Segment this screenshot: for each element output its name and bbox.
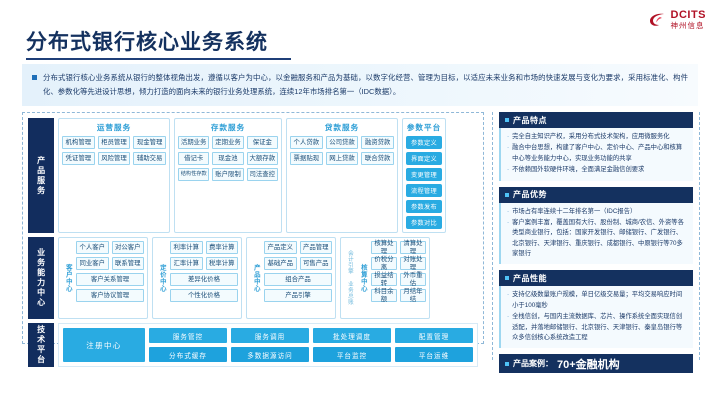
sidebar-item-capability-center[interactable]: 业务能力中心 <box>28 237 54 319</box>
dot-icon: · <box>507 312 509 343</box>
card-body: ·支持亿级数量账户规模，单日亿级交易量；平均交易响应时间小于100毫秒 ·全栈信… <box>499 286 693 348</box>
bullet-square-icon <box>505 276 509 280</box>
cell-item[interactable]: 现金池 <box>212 152 243 165</box>
cell-item[interactable]: 外币重估 <box>400 273 426 286</box>
cell-item[interactable]: 可售产品 <box>300 257 333 270</box>
card-body: ·市场占有率连续十二年排名第一（IDC报告） ·客户案例丰富，覆盖国有大行、股份… <box>499 203 693 265</box>
list-item: ·支持亿级数量账户规模，单日亿级交易量；平均交易响应时间小于100毫秒 <box>507 290 687 311</box>
card-header: 产品优势 <box>499 187 693 203</box>
tech-button[interactable]: 服务管控 <box>149 328 227 343</box>
intro-text: 分布式银行核心业务系统从银行的整体视角出发，遵循以客户为中心，以金融服务和产品为… <box>43 71 688 98</box>
cell-item[interactable]: 个人贷款 <box>290 136 323 149</box>
list-item-text: 全栈信创，与国内主流数据库、芯片、操作系统全面实现信创适配，并落地邮储银行、北京… <box>512 312 687 343</box>
cell-item[interactable]: 个人客户 <box>76 241 109 254</box>
cell-item[interactable]: 产品定义 <box>264 241 297 254</box>
cell-item[interactable]: 组合产品 <box>264 273 332 286</box>
cell-item[interactable]: 大额存款 <box>247 152 278 165</box>
cell-item[interactable]: 同业客户 <box>76 257 109 270</box>
product-cases-label: 产品案例： <box>513 358 553 369</box>
cell-item[interactable]: 柜员管理 <box>98 136 131 149</box>
cell-item[interactable]: 科目余额 <box>371 289 397 302</box>
param-button[interactable]: 变更管理 <box>406 168 442 181</box>
list-item-text: 客户案例丰富，覆盖国有大行、股份制、城商/农信、外资等各类型商业银行，包括：国家… <box>512 218 687 260</box>
cell-item[interactable]: 产品管理 <box>300 241 333 254</box>
sidebar-item-tech-platform[interactable]: 技术平台 <box>28 323 54 367</box>
vlabel-accounting-center: 核算中心 <box>357 241 368 315</box>
card-header: 产品性能 <box>499 270 693 286</box>
param-button[interactable]: 参数发布 <box>406 200 442 213</box>
dot-icon: · <box>507 143 509 164</box>
cell-item[interactable]: 核算处理 <box>371 241 397 254</box>
vlabel-customer-center: 客户中心 <box>62 241 73 315</box>
list-item: ·客户案例丰富，覆盖国有大行、股份制、城商/农信、外资等各类型商业银行，包括：国… <box>507 218 687 260</box>
group-title-operation: 运营服务 <box>62 122 166 133</box>
card-title: 产品性能 <box>513 273 547 284</box>
group-title-deposit: 存款服务 <box>178 122 278 133</box>
list-item: ·全栈信创，与国内主流数据库、芯片、操作系统全面实现信创适配，并落地邮储银行、北… <box>507 312 687 343</box>
bullet-square-icon <box>505 118 509 122</box>
cell-item[interactable]: 融资贷款 <box>361 136 394 149</box>
list-item: ·完全自主知识产权，采用分布式技术架构，应用微服务化 <box>507 132 687 142</box>
cell-item[interactable]: 网上贷款 <box>326 152 359 165</box>
group-customer-center: 客户中心 个人客户 对公客户 同业客户 联系管理 客户关系管理 客户协议管理 <box>58 237 148 319</box>
logo-en-text: DCITS <box>671 10 707 21</box>
cell-item[interactable]: 保证金 <box>247 136 278 149</box>
intro-banner: 分布式银行核心业务系统从银行的整体视角出发，遵循以客户为中心，以金融服务和产品为… <box>22 64 698 106</box>
list-item-text: 支持亿级数量账户规模，单日亿级交易量；平均交易响应时间小于100毫秒 <box>512 290 687 311</box>
dot-icon: · <box>507 207 509 217</box>
list-item-text: 融合中台思想，构建了客户中心、定价中心、产品中心和核算中心等业务能力中心，实现业… <box>512 143 687 164</box>
card-title: 产品优势 <box>513 189 547 200</box>
group-deposit-service: 存款服务 活期业务 定期业务 保证金 借记卡 现金池 大额存款 结构性存款 账户… <box>174 118 282 233</box>
arch-row-tech-platform: 技术平台 注册中心 服务管控 服务调用 批处理调度 配置管理 分布式缓存 多数据… <box>28 323 478 367</box>
group-title-param-platform: 参数平台 <box>406 122 442 133</box>
vlabel-product-center: 产品中心 <box>250 241 261 315</box>
dot-icon: · <box>507 290 509 311</box>
group-loan-service: 贷款服务 个人贷款 公司贷款 融资贷款 票据贴现 网上贷款 联合贷款 <box>286 118 398 233</box>
card-product-advantages: 产品优势 ·市场占有率连续十二年排名第一（IDC报告） ·客户案例丰富，覆盖国有… <box>499 187 693 265</box>
cell-item[interactable]: 凭证管理 <box>62 152 95 165</box>
product-cases-value: 70+金融机构 <box>557 356 620 372</box>
group-title-loan: 贷款服务 <box>290 122 394 133</box>
card-body: ·完全自主知识产权，采用分布式技术架构，应用微服务化 ·融合中台思想，构建了客户… <box>499 128 693 181</box>
cell-item[interactable]: 司法查控 <box>247 168 278 181</box>
brand-logo: DCITS 神州信息 <box>647 10 707 30</box>
param-button[interactable]: 参数定义 <box>406 136 442 149</box>
cell-item[interactable]: 票据贴现 <box>290 152 323 165</box>
list-item-text: 不依赖国外软硬件环境，全面满足金融信创要求 <box>512 165 644 175</box>
list-item-text: 完全自主知识产权，采用分布式技术架构，应用微服务化 <box>512 132 669 142</box>
param-button[interactable]: 参数对比 <box>406 216 442 229</box>
cell-item[interactable]: 利率计算 <box>170 241 203 254</box>
cell-item[interactable]: 活期业务 <box>178 136 209 149</box>
logo-cn-text: 神州信息 <box>671 22 707 30</box>
cell-item[interactable]: 现金管理 <box>133 136 166 149</box>
cell-item[interactable]: 结构性存款 <box>178 168 209 181</box>
cell-item[interactable]: 联合贷款 <box>361 152 394 165</box>
cell-item[interactable]: 定期业务 <box>212 136 243 149</box>
tech-button[interactable]: 服务调用 <box>231 328 309 343</box>
bullet-square-icon <box>32 75 37 80</box>
cell-item[interactable]: 联系管理 <box>112 257 145 270</box>
param-button[interactable]: 界面定义 <box>406 152 442 165</box>
title-underline <box>26 58 291 60</box>
list-item: ·市场占有率连续十二年排名第一（IDC报告） <box>507 207 687 217</box>
slide-root: DCITS 神州信息 分布式银行核心业务系统 分布式银行核心业务系统从银行的整体… <box>0 0 720 405</box>
card-product-performance: 产品性能 ·支持亿级数量账户规模，单日亿级交易量；平均交易响应时间小于100毫秒… <box>499 270 693 348</box>
list-item: ·融合中台思想，构建了客户中心、定价中心、产品中心和核算中心等业务能力中心，实现… <box>507 143 687 164</box>
list-item: ·不依赖国外软硬件环境，全面满足金融信创要求 <box>507 165 687 175</box>
group-accounting-center: 会计引擎 业务总账 核算中心 核算处理 清算处理 价税分离 对账处理 损益结转 … <box>340 237 430 319</box>
cell-item[interactable]: 差异化价格 <box>170 273 238 286</box>
tech-platform-panel: 注册中心 服务管控 服务调用 批处理调度 配置管理 分布式缓存 多数据源访问 平… <box>58 323 478 367</box>
page-title: 分布式银行核心业务系统 <box>26 26 268 56</box>
tech-button[interactable]: 批处理调度 <box>313 328 391 343</box>
tech-button[interactable]: 分布式缓存 <box>149 347 227 362</box>
arch-row-product-service: 产品服务 运营服务 机构管理 柜员管理 现金管理 凭证管理 风险管理 辅助交易 … <box>28 118 478 233</box>
card-title: 产品特点 <box>513 115 547 126</box>
bullet-square-icon <box>505 362 509 366</box>
cell-item[interactable]: 损益结转 <box>371 273 397 286</box>
group-operation-service: 运营服务 机构管理 柜员管理 现金管理 凭证管理 风险管理 辅助交易 <box>58 118 170 233</box>
cell-item[interactable]: 基础产品 <box>264 257 297 270</box>
cell-item[interactable]: 客户关系管理 <box>76 273 144 286</box>
dot-icon: · <box>507 218 509 260</box>
tech-button[interactable]: 配置管理 <box>395 328 473 343</box>
cell-item[interactable]: 公司贷款 <box>326 136 359 149</box>
tech-registry-center[interactable]: 注册中心 <box>63 328 145 362</box>
cell-item[interactable]: 机构管理 <box>62 136 95 149</box>
cell-item[interactable]: 汇率计算 <box>170 257 203 270</box>
architecture-diagram: 产品服务 运营服务 机构管理 柜员管理 现金管理 凭证管理 风险管理 辅助交易 … <box>22 112 484 344</box>
cell-item[interactable]: 税率计算 <box>206 257 239 270</box>
info-panel: 产品特点 ·完全自主知识产权，采用分布式技术架构，应用微服务化 ·融合中台思想，… <box>492 112 700 360</box>
group-product-center: 产品中心 产品定义 产品管理 基础产品 可售产品 组合产品 产品引擎 <box>246 237 336 319</box>
dcits-swirl-icon <box>647 10 667 30</box>
cell-item[interactable]: 个性化价格 <box>170 289 238 302</box>
cell-item[interactable]: 风险管理 <box>98 152 131 165</box>
sidebar-item-product-service[interactable]: 产品服务 <box>28 118 54 233</box>
cell-item[interactable]: 客户协议管理 <box>76 289 144 302</box>
card-product-features: 产品特点 ·完全自主知识产权，采用分布式技术架构，应用微服务化 ·融合中台思想，… <box>499 112 693 181</box>
cell-item[interactable]: 对公客户 <box>112 241 145 254</box>
tech-button[interactable]: 多数据源访问 <box>231 347 309 362</box>
cell-item[interactable]: 产品引擎 <box>264 289 332 302</box>
dot-icon: · <box>507 132 509 142</box>
cell-item[interactable]: 清算处理 <box>400 241 426 254</box>
product-cases-bar: 产品案例： 70+金融机构 <box>499 354 693 373</box>
card-header: 产品特点 <box>499 112 693 128</box>
dot-icon: · <box>507 165 509 175</box>
vlabel-pricing-center: 定价中心 <box>156 241 167 315</box>
list-item-text: 市场占有率连续十二年排名第一（IDC报告） <box>512 207 636 217</box>
cell-item[interactable]: 账户限制 <box>212 168 243 181</box>
cell-item[interactable]: 月结年结 <box>400 289 426 302</box>
group-pricing-center: 定价中心 利率计算 费率计算 汇率计算 税率计算 差异化价格 个性化价格 <box>152 237 242 319</box>
cell-item[interactable]: 辅助交易 <box>133 152 166 165</box>
bullet-square-icon <box>505 193 509 197</box>
tech-button[interactable]: 平台监控 <box>313 347 391 362</box>
param-button[interactable]: 流程管理 <box>406 184 442 197</box>
cell-item[interactable]: 对账处理 <box>400 257 426 270</box>
group-param-platform: 参数平台 参数定义 界面定义 变更管理 流程管理 参数发布 参数对比 <box>402 118 446 233</box>
tech-button[interactable]: 平台运维 <box>395 347 473 362</box>
cell-item[interactable]: 借记卡 <box>178 152 209 165</box>
cell-item[interactable]: 价税分离 <box>371 257 397 270</box>
vlabel-accounting-sublabel: 会计引擎 业务总账 <box>344 241 354 315</box>
cell-item[interactable]: 费率计算 <box>206 241 239 254</box>
arch-row-capability-center: 业务能力中心 客户中心 个人客户 对公客户 同业客户 联系管理 客户关系管理 客… <box>28 237 478 319</box>
